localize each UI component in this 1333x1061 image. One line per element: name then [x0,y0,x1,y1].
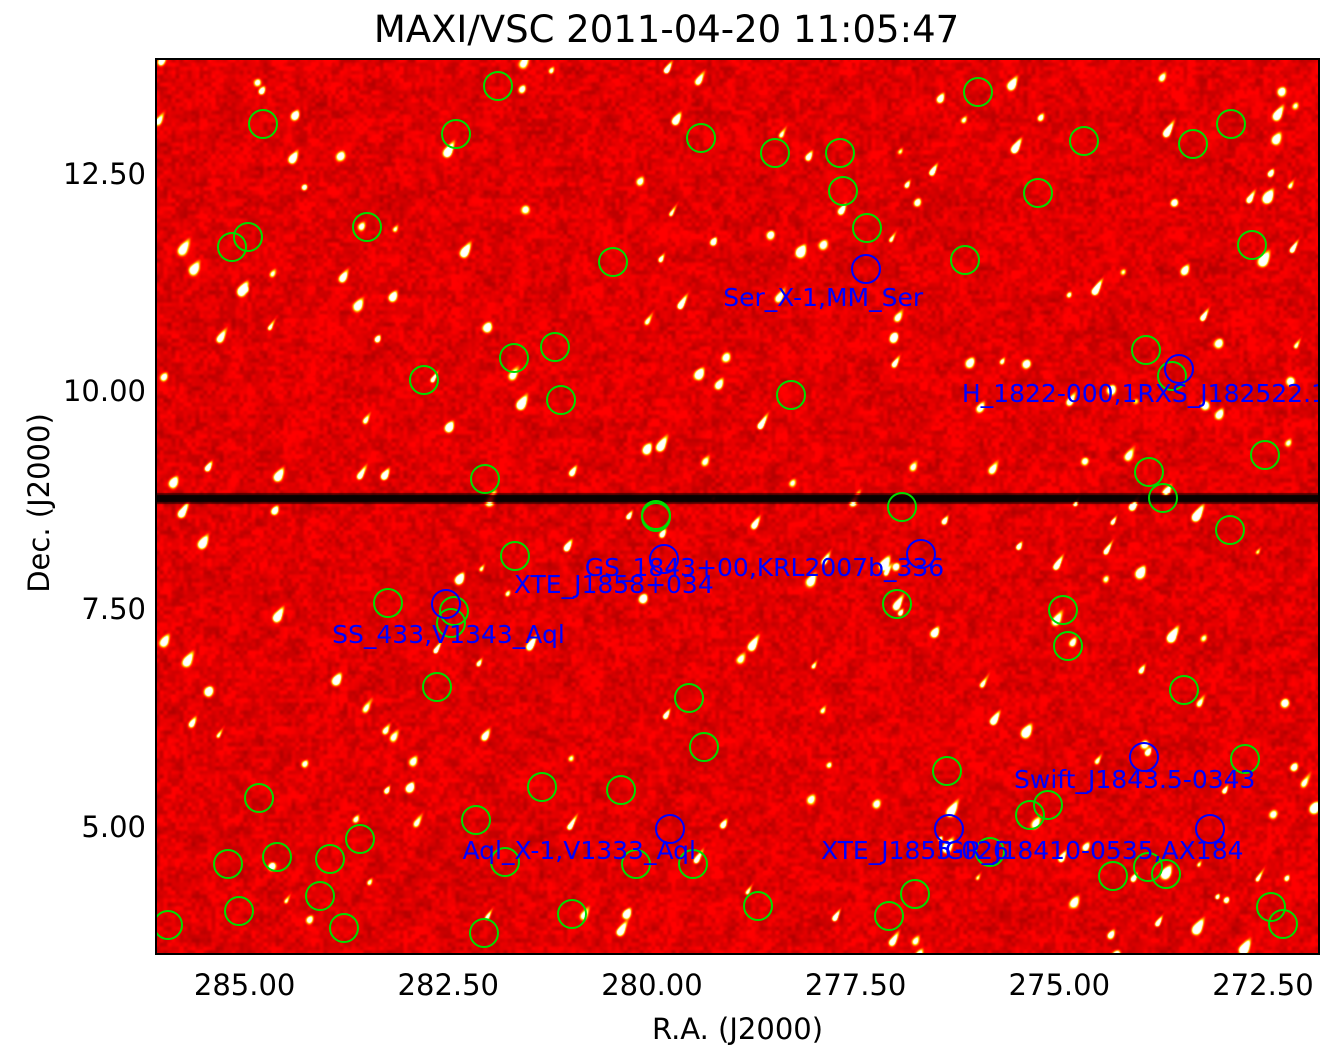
x-tick-label: 275.00 [1009,968,1110,1002]
x-axis-ticks: 285.00282.50280.00277.50275.00272.50 [0,968,1333,1008]
sky-image-canvas [157,60,1320,955]
x-tick-label: 272.50 [1212,968,1313,1002]
maxi-vsc-figure: MAXI/VSC 2011-04-20 11:05:47 5.007.5010.… [0,0,1333,1061]
y-tick-label: 5.00 [6,810,146,844]
y-axis-title: Dec. (J2000) [22,373,56,633]
page-title: MAXI/VSC 2011-04-20 11:05:47 [0,8,1333,51]
sky-image-plot[interactable]: Aql_X-1,V1333_AqlXTE_J1855-026IGR_J18410… [155,58,1320,955]
x-axis-title: R.A. (J2000) [155,1012,1320,1046]
x-tick-label: 277.50 [805,968,906,1002]
x-tick-label: 280.00 [601,968,702,1002]
y-tick-label: 12.50 [6,157,146,191]
x-tick-label: 285.00 [194,968,295,1002]
x-tick-label: 282.50 [398,968,499,1002]
